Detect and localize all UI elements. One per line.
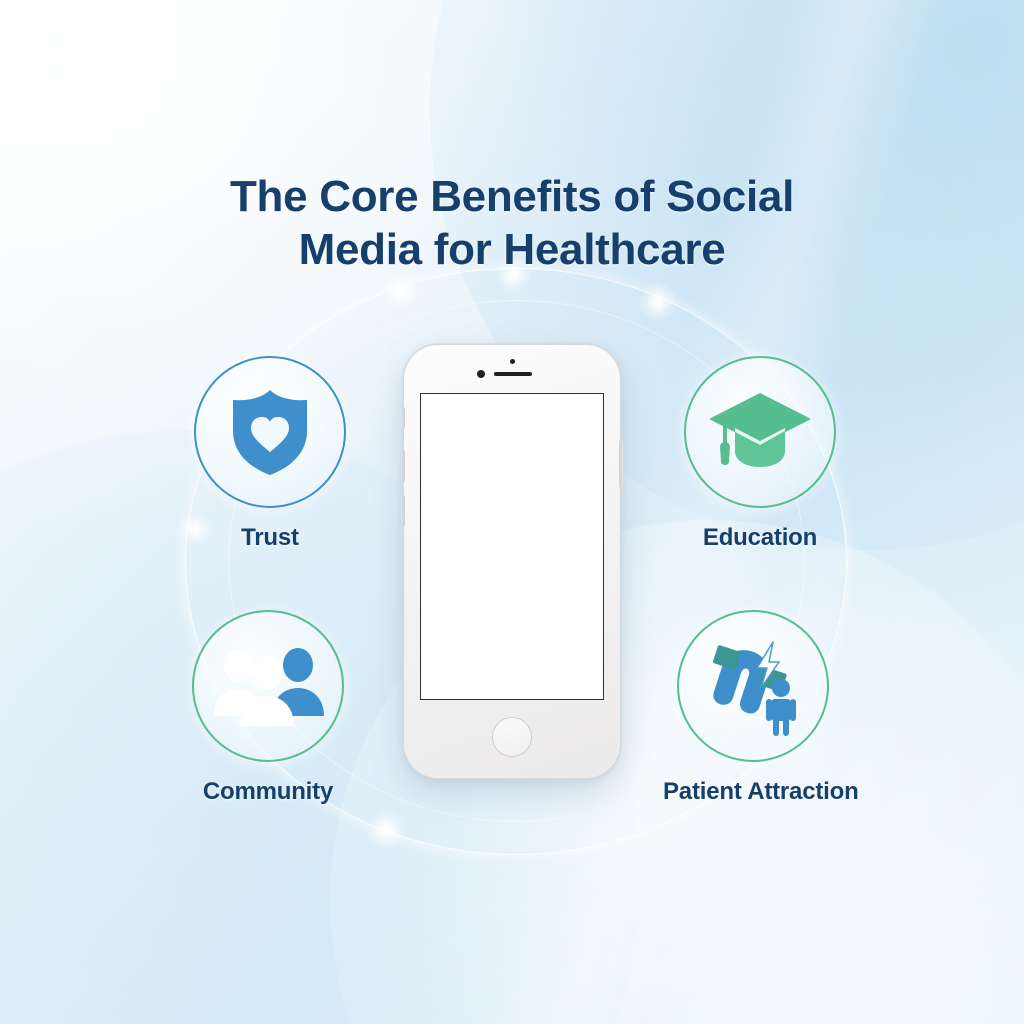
front-camera-icon: [477, 370, 485, 378]
people-group-icon: [212, 644, 324, 728]
smartphone-mockup[interactable]: [404, 345, 620, 778]
magnet-person-icon: [699, 636, 807, 736]
page-title-line-2: Media for Healthcare: [0, 223, 1024, 276]
benefit-circle-patient-attraction: [677, 610, 829, 762]
glow-dot-4: [366, 810, 406, 850]
background-light-sweep: [264, 0, 1024, 1024]
glow-dot-1: [382, 272, 420, 310]
benefit-label-community: Community: [178, 778, 358, 806]
benefit-label-education: Education: [670, 524, 850, 552]
page-title: The Core Benefits of Social Media for He…: [0, 170, 1024, 276]
page-title-line-1: The Core Benefits of Social: [0, 170, 1024, 223]
benefit-node-trust[interactable]: Trust: [180, 356, 360, 552]
phone-screen[interactable]: [420, 393, 604, 700]
volume-down-button[interactable]: [401, 495, 405, 527]
shield-heart-icon: [227, 386, 313, 478]
glow-dot-3: [638, 282, 678, 322]
benefit-label-trust: Trust: [180, 524, 360, 552]
benefit-circle-trust: [194, 356, 346, 508]
benefit-node-education[interactable]: Education: [670, 356, 850, 552]
home-button[interactable]: [492, 717, 532, 757]
graduation-cap-icon: [705, 387, 815, 477]
earpiece-speaker-icon: [494, 372, 532, 376]
benefit-circle-education: [684, 356, 836, 508]
proximity-sensor-icon: [510, 359, 515, 364]
benefit-circle-community: [192, 610, 344, 762]
benefit-node-community[interactable]: Community: [178, 610, 358, 806]
volume-up-button[interactable]: [401, 450, 405, 482]
benefit-label-patient-attraction: Patient Attraction: [663, 778, 843, 806]
benefit-node-patient-attraction[interactable]: Patient Attraction: [663, 610, 843, 806]
power-button[interactable]: [619, 440, 623, 488]
infographic-canvas: The Core Benefits of Social Media for He…: [0, 0, 1024, 1024]
silent-switch-button[interactable]: [401, 407, 405, 429]
